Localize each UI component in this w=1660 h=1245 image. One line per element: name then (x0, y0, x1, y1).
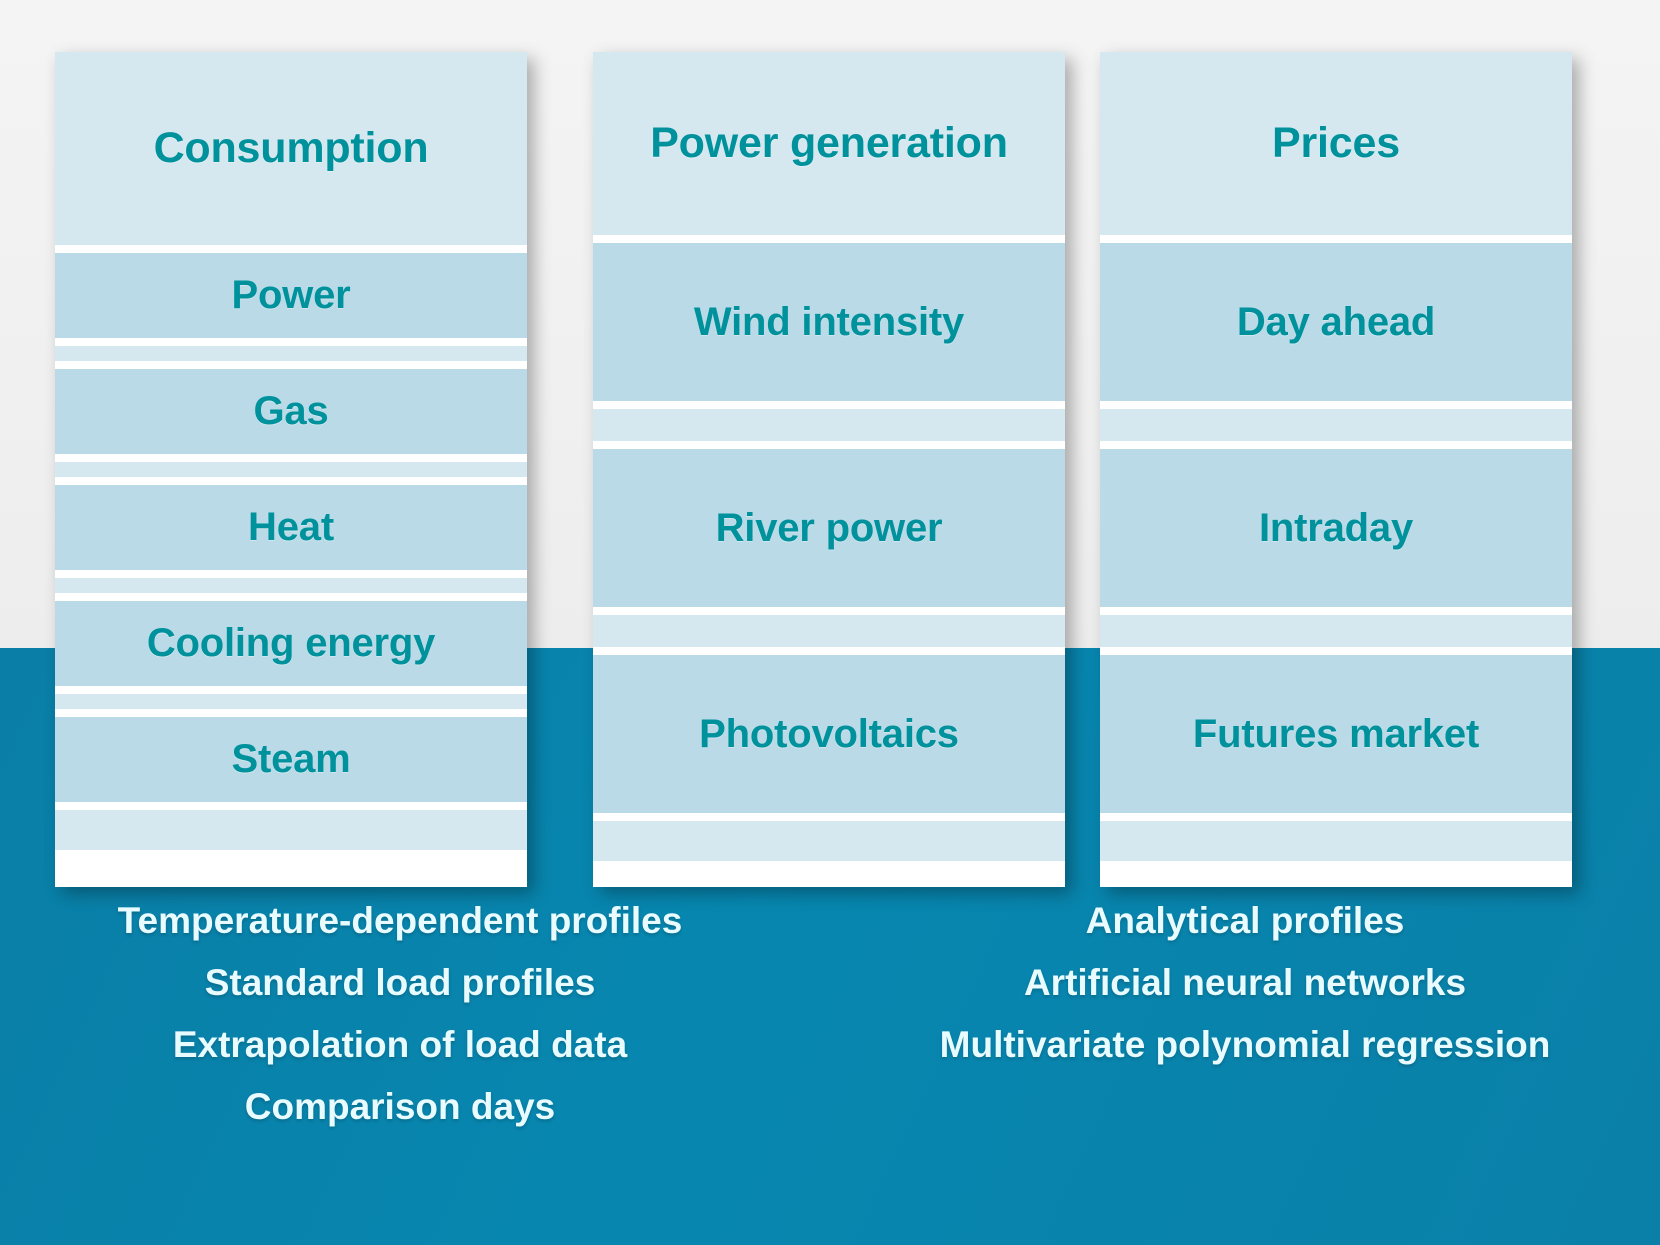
column-prices[interactable]: Prices Day ahead Intraday Futures market (1100, 52, 1572, 887)
row-divider (55, 593, 527, 601)
row-label: Heat (248, 505, 334, 550)
column-card: Consumption Power Gas Heat (55, 52, 527, 887)
row-heat[interactable]: Heat (55, 485, 527, 570)
row-divider (55, 802, 527, 810)
row-divider (1100, 401, 1572, 409)
row-spacer (55, 462, 527, 477)
row-label: Power (231, 273, 350, 318)
column-header-prices: Prices (1100, 52, 1572, 235)
column-card: Power generation Wind intensity River po… (593, 52, 1065, 887)
row-spacer-bottom (55, 810, 527, 850)
row-divider (55, 709, 527, 717)
row-label: Steam (231, 737, 350, 782)
row-divider (593, 401, 1065, 409)
row-label: Cooling energy (147, 621, 435, 666)
row-futures-market[interactable]: Futures market (1100, 655, 1572, 813)
row-divider (55, 477, 527, 485)
row-intraday[interactable]: Intraday (1100, 449, 1572, 607)
column-header-power-generation: Power generation (593, 52, 1065, 235)
column-header-label: Power generation (650, 119, 1008, 168)
row-label: Gas (253, 389, 328, 434)
row-photovoltaics[interactable]: Photovoltaics (593, 655, 1065, 813)
row-divider (593, 607, 1065, 615)
row-divider (593, 235, 1065, 243)
row-spacer (1100, 615, 1572, 647)
row-label: Futures market (1193, 712, 1479, 757)
column-power-generation[interactable]: Power generation Wind intensity River po… (593, 52, 1065, 887)
row-power[interactable]: Power (55, 253, 527, 338)
row-spacer (593, 615, 1065, 647)
method-item: Comparison days (20, 1076, 780, 1138)
row-spacer (1100, 409, 1572, 441)
row-divider (55, 245, 527, 253)
row-spacer-bottom (1100, 821, 1572, 861)
method-item: Standard load profiles (20, 952, 780, 1014)
row-divider (55, 361, 527, 369)
method-item: Multivariate polynomial regression (830, 1014, 1660, 1076)
column-header-label: Consumption (154, 124, 429, 173)
column-header-label: Prices (1272, 119, 1400, 168)
row-river-power[interactable]: River power (593, 449, 1065, 607)
method-item: Extrapolation of load data (20, 1014, 780, 1076)
method-item: Artificial neural networks (830, 952, 1660, 1014)
row-cooling-energy[interactable]: Cooling energy (55, 601, 527, 686)
column-header-consumption: Consumption (55, 52, 527, 245)
method-item: Temperature-dependent profiles (20, 890, 780, 952)
row-divider (55, 686, 527, 694)
row-divider (1100, 441, 1572, 449)
row-spacer (55, 346, 527, 361)
row-label: River power (716, 506, 943, 551)
row-gas[interactable]: Gas (55, 369, 527, 454)
row-wind-intensity[interactable]: Wind intensity (593, 243, 1065, 401)
row-divider (593, 813, 1065, 821)
row-label: Wind intensity (694, 300, 964, 345)
row-divider (1100, 235, 1572, 243)
row-spacer-bottom (593, 821, 1065, 861)
methods-list-left: Temperature-dependent profiles Standard … (20, 890, 780, 1139)
row-spacer (55, 694, 527, 709)
slide-canvas: Consumption Power Gas Heat (0, 0, 1660, 1245)
row-spacer (593, 409, 1065, 441)
row-divider (55, 454, 527, 462)
row-divider (55, 570, 527, 578)
row-day-ahead[interactable]: Day ahead (1100, 243, 1572, 401)
column-card: Prices Day ahead Intraday Futures market (1100, 52, 1572, 887)
row-label: Intraday (1259, 506, 1413, 551)
row-divider (593, 647, 1065, 655)
row-divider (1100, 607, 1572, 615)
row-steam[interactable]: Steam (55, 717, 527, 802)
row-divider (593, 441, 1065, 449)
row-divider (55, 338, 527, 346)
row-spacer (55, 578, 527, 593)
row-label: Day ahead (1237, 300, 1435, 345)
row-divider (1100, 813, 1572, 821)
method-item: Analytical profiles (830, 890, 1660, 952)
methods-list-right: Analytical profiles Artificial neural ne… (830, 890, 1660, 1076)
row-divider (1100, 647, 1572, 655)
row-label: Photovoltaics (699, 712, 959, 757)
column-consumption[interactable]: Consumption Power Gas Heat (55, 52, 527, 887)
